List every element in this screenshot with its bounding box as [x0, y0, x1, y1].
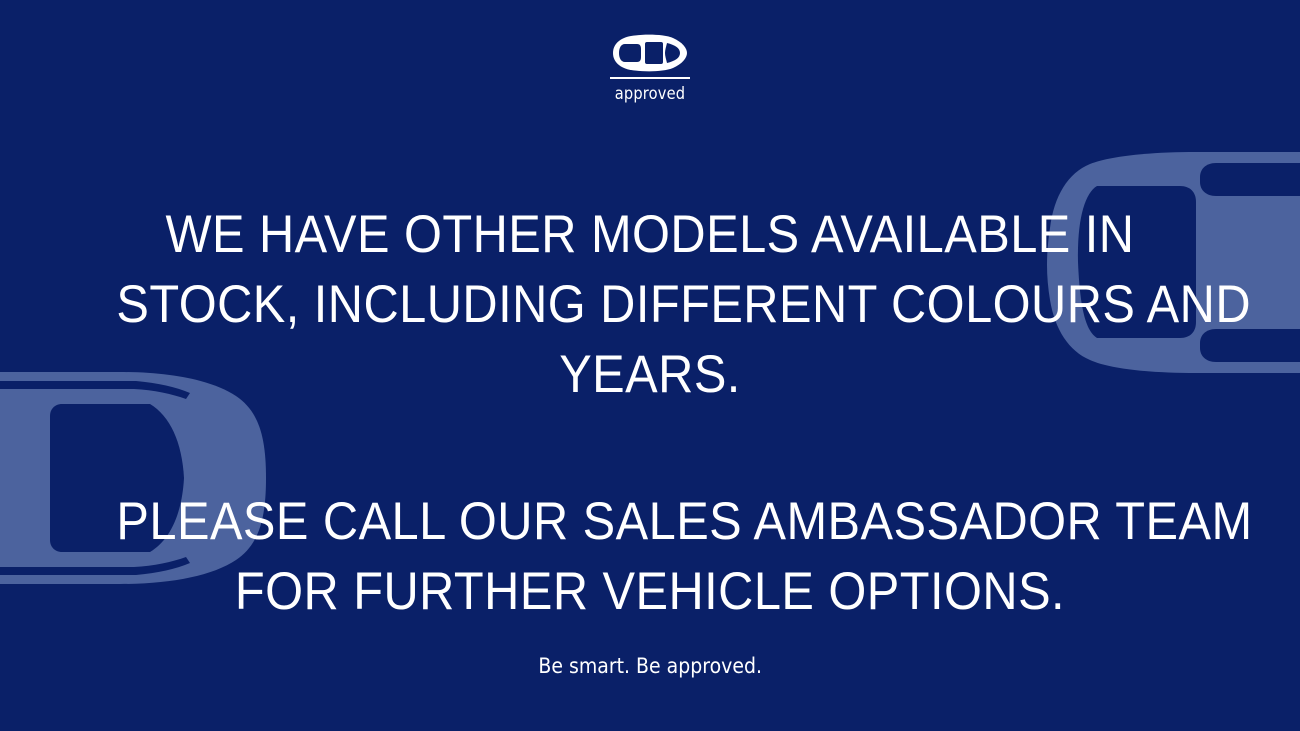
headline-line: FOR FURTHER VEHICLE OPTIONS.	[116, 557, 1183, 627]
car-top-view-icon	[611, 34, 689, 72]
approved-logo: approved	[0, 34, 1300, 104]
headline-line: STOCK, INCLUDING DIFFERENT COLOURS AND	[116, 270, 1183, 340]
logo-divider	[610, 77, 690, 79]
tagline: Be smart. Be approved.	[200, 654, 1100, 678]
headline-paragraph-two: PLEASE CALL OUR SALES AMBASSADOR TEAM FO…	[70, 487, 1230, 627]
logo-wordmark: approved	[615, 84, 685, 104]
tagline-text: Be smart. Be approved.	[538, 654, 762, 678]
headline-line: PLEASE CALL OUR SALES AMBASSADOR TEAM	[116, 487, 1183, 557]
message-content: WE HAVE OTHER MODELS AVAILABLE IN STOCK,…	[0, 0, 1300, 731]
promo-slide: approved WE HAVE OTHER MODELS AVAILABLE …	[0, 0, 1300, 731]
headline-line: YEARS.	[116, 340, 1183, 410]
headline-paragraph-one: WE HAVE OTHER MODELS AVAILABLE IN STOCK,…	[70, 200, 1230, 410]
headline-line: WE HAVE OTHER MODELS AVAILABLE IN	[116, 200, 1183, 270]
